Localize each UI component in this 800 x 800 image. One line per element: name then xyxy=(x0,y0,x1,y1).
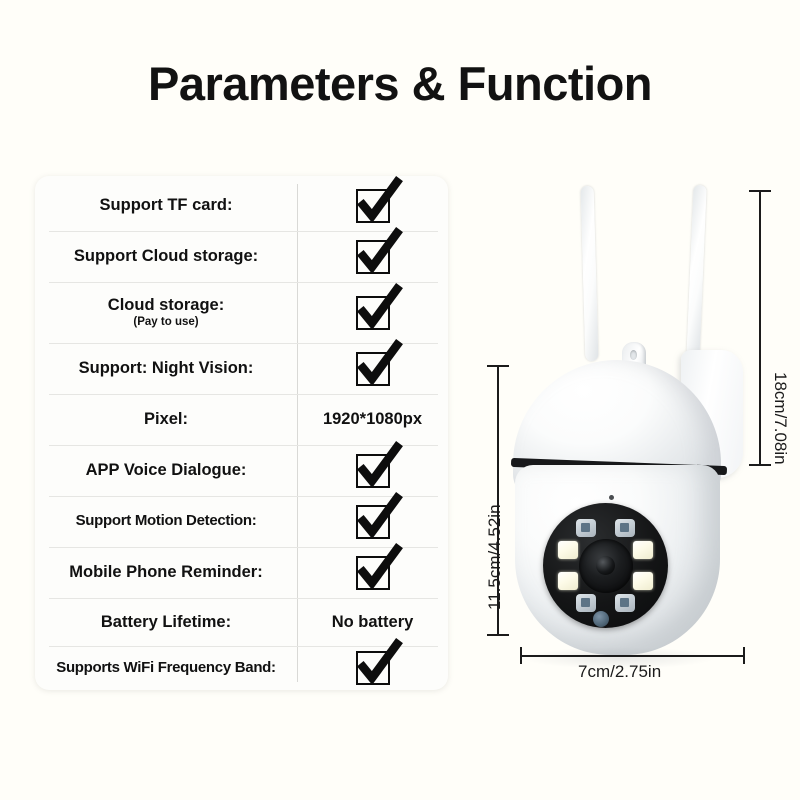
white-led-upper-right xyxy=(633,541,653,559)
spec-row: Pixel:1920*1080px xyxy=(35,394,448,445)
checkmark-icon xyxy=(356,352,390,386)
page-title: Parameters & Function xyxy=(0,56,800,111)
spec-row-value xyxy=(297,189,448,223)
ir-led-top-right xyxy=(615,519,635,537)
camera-lens-icon xyxy=(579,539,633,593)
spec-row-label: Battery Lifetime: xyxy=(35,613,297,631)
dim-bottom-label: 7cm/2.75in xyxy=(578,662,661,682)
spec-row-value: 1920*1080px xyxy=(297,410,448,429)
checkmark-glyph xyxy=(355,496,401,542)
spec-row-value xyxy=(297,556,448,590)
spec-row: Support Cloud storage: xyxy=(35,231,448,282)
spec-row: APP Voice Dialogue: xyxy=(35,445,448,496)
spec-row: Mobile Phone Reminder: xyxy=(35,547,448,598)
spec-row: Battery Lifetime:No battery xyxy=(35,598,448,646)
spec-row: Cloud storage:(Pay to use) xyxy=(35,282,448,343)
spec-row-value xyxy=(297,240,448,274)
spec-row-value xyxy=(297,352,448,386)
ir-led-top-left xyxy=(576,519,596,537)
spec-row-value-text: No battery xyxy=(332,613,414,632)
spec-row-label: APP Voice Dialogue: xyxy=(35,461,297,479)
spec-row-sublabel: (Pay to use) xyxy=(41,316,291,329)
white-led-lower-right xyxy=(633,572,653,590)
light-sensor-icon xyxy=(593,611,609,627)
white-led-upper-left xyxy=(558,541,578,559)
product-image-camera xyxy=(485,165,775,675)
dim-right-label: 18cm/7.08in xyxy=(770,372,790,465)
spec-row-label: Pixel: xyxy=(35,410,297,428)
checkmark-icon xyxy=(356,240,390,274)
microphone-pinhole-icon xyxy=(609,495,614,500)
spec-row: Support Motion Detection: xyxy=(35,496,448,547)
spec-row: Supports WiFi Frequency Band: xyxy=(35,646,448,690)
antenna-right-icon xyxy=(686,185,706,360)
spec-row-value xyxy=(297,296,448,330)
spec-row-value xyxy=(297,505,448,539)
spec-row-value xyxy=(297,454,448,488)
dim-bottom-line xyxy=(520,655,744,657)
spec-row-value-text: 1920*1080px xyxy=(323,410,422,429)
ir-led-bottom-right xyxy=(615,594,635,612)
spec-row-label: Supports WiFi Frequency Band: xyxy=(35,660,297,677)
checkmark-icon xyxy=(356,505,390,539)
infographic-canvas: Parameters & Function Support TF card:Su… xyxy=(0,0,800,800)
spec-table-panel: Support TF card:Support Cloud storage:Cl… xyxy=(35,176,448,690)
ir-led-bottom-left xyxy=(576,594,596,612)
checkmark-glyph xyxy=(355,343,401,389)
spec-row-label: Cloud storage:(Pay to use) xyxy=(35,296,297,328)
checkmark-icon xyxy=(356,454,390,488)
spec-row-value xyxy=(297,651,448,685)
checkmark-icon xyxy=(356,189,390,223)
checkmark-icon xyxy=(356,296,390,330)
spec-row-label: Support Motion Detection: xyxy=(35,513,297,530)
spec-row-label: Support: Night Vision: xyxy=(35,359,297,377)
white-led-lower-left xyxy=(558,572,578,590)
checkmark-glyph xyxy=(355,180,401,226)
dim-left-label: 11.5cm/4.52in xyxy=(485,504,505,610)
checkmark-icon xyxy=(356,556,390,590)
spec-row-label: Support Cloud storage: xyxy=(35,247,297,265)
dim-right-cap-bottom xyxy=(749,464,771,466)
spec-row-list: Support TF card:Support Cloud storage:Cl… xyxy=(35,176,448,690)
antenna-left-icon xyxy=(581,186,599,361)
checkmark-glyph xyxy=(355,547,401,593)
checkmark-glyph xyxy=(355,642,401,688)
checkmark-glyph xyxy=(355,287,401,333)
checkmark-icon xyxy=(356,651,390,685)
checkmark-glyph xyxy=(355,445,401,491)
spec-row-label: Mobile Phone Reminder: xyxy=(35,563,297,581)
checkmark-glyph xyxy=(355,231,401,277)
dim-right-line xyxy=(759,190,761,465)
spec-row: Support TF card: xyxy=(35,180,448,231)
camera-led-faceplate xyxy=(543,503,668,628)
dim-left-cap-bottom xyxy=(487,634,509,636)
spec-row-value: No battery xyxy=(297,613,448,632)
spec-row: Support: Night Vision: xyxy=(35,343,448,394)
spec-row-label: Support TF card: xyxy=(35,196,297,214)
dim-bottom-cap-right xyxy=(743,647,745,664)
